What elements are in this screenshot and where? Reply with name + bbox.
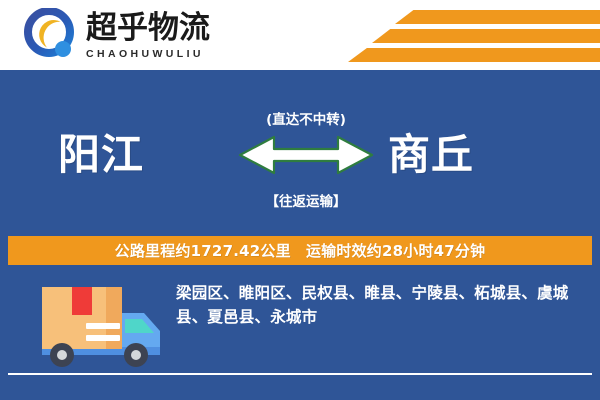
destination-city-label: 商丘 bbox=[388, 134, 474, 176]
round-trip-label: 【往返运输】 bbox=[232, 190, 380, 210]
circle-swoosh-logo-icon bbox=[24, 8, 80, 64]
brand-text-block: 超乎物流 CHAOHUWULIU bbox=[86, 12, 210, 60]
logistics-route-poster: 超乎物流 CHAOHUWULIU 阳江 (直达不中转) 【往返运输】 bbox=[0, 0, 600, 400]
orange-stripes-decoration bbox=[340, 8, 600, 66]
double-headed-arrow-icon bbox=[238, 132, 374, 183]
brand-name-cn: 超乎物流 bbox=[86, 12, 210, 45]
origin-city-label: 阳江 bbox=[58, 134, 144, 176]
coverage-section: 梁园区、睢阳区、民权县、睢县、宁陵县、柘城县、虞城县、夏邑县、永城市 bbox=[0, 275, 600, 375]
header-bar: 超乎物流 CHAOHUWULIU bbox=[0, 0, 600, 70]
bottom-divider bbox=[8, 373, 592, 375]
delivery-truck-icon bbox=[24, 279, 174, 376]
main-blue-panel: 阳江 (直达不中转) 【往返运输】 商丘 公路里程约1727.42公里 运输时效… bbox=[0, 70, 600, 400]
stripe-3 bbox=[348, 48, 600, 62]
direct-shipping-label: (直达不中转) bbox=[232, 108, 380, 128]
stripe-2 bbox=[372, 29, 600, 43]
route-section: 阳江 (直达不中转) 【往返运输】 商丘 bbox=[0, 108, 600, 218]
brand-lockup: 超乎物流 CHAOHUWULIU bbox=[24, 8, 210, 64]
distance-duration-text: 公路里程约1727.42公里 运输时效约28小时47分钟 bbox=[115, 240, 486, 261]
route-arrow-block: (直达不中转) 【往返运输】 bbox=[232, 108, 380, 218]
brand-name-en: CHAOHUWULIU bbox=[86, 48, 210, 60]
distance-duration-banner: 公路里程约1727.42公里 运输时效约28小时47分钟 bbox=[8, 236, 592, 265]
coverage-areas-text: 梁园区、睢阳区、民权县、睢县、宁陵县、柘城县、虞城县、夏邑县、永城市 bbox=[176, 281, 588, 329]
stripe-1 bbox=[395, 10, 600, 24]
